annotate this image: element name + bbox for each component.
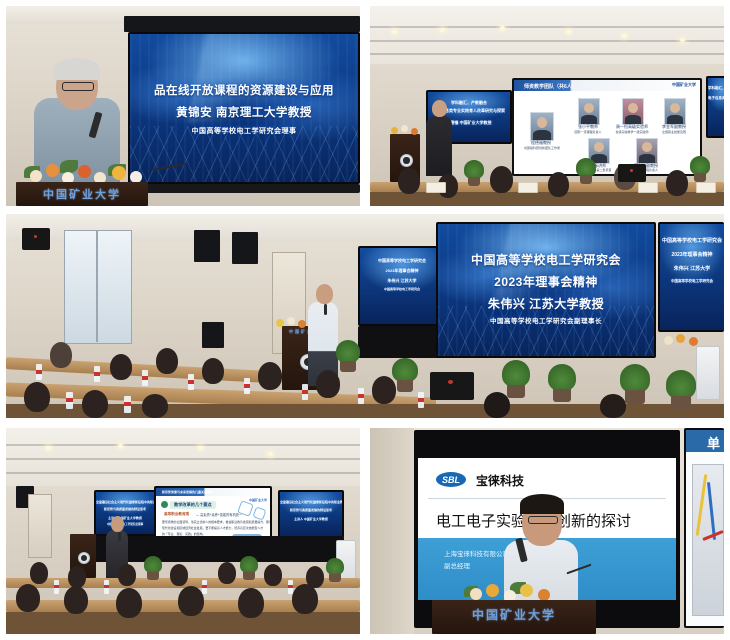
decorative-hexagon-icon — [252, 506, 266, 520]
wall-panel — [194, 230, 220, 262]
audience-head — [202, 358, 224, 384]
panel-top-right: 学科融汇、产教融合 电子信息类专业实践育人改革研究与探索 程德福 中国矿业大学教… — [370, 6, 724, 206]
water-bottle — [94, 366, 100, 382]
side-slide-line-1: 全面建设社会主义现代化国家新征程中的职业教育 — [280, 500, 342, 504]
potted-plant — [620, 364, 650, 404]
presentation-slide: 品在线开放课程的资源建设与应用 黄锦安 南京理工大学教授 中国高等学校电工学研究… — [130, 34, 358, 182]
audience-name-card — [638, 182, 658, 193]
potted-plant — [336, 340, 360, 372]
speaker-box — [618, 164, 646, 182]
side-screen-right: 全面建设社会主义现代化国家新征程中的职业教育 新形势与高质量发展的辩证思考 主讲… — [278, 490, 344, 538]
side-slide-line-4: 中国高等学校电工学研究会理事 — [96, 523, 154, 527]
potted-plant — [548, 364, 576, 402]
audience-head — [82, 390, 108, 418]
side-screen-left: 全面建设社会主义现代化国家新征程中的职业教育 新形势与高质量发展的辩证思考 主讲… — [94, 490, 156, 536]
water-dispenser — [696, 346, 720, 400]
water-bottle — [124, 396, 131, 413]
water-bottle — [36, 364, 42, 380]
side-slide-line-2: 新形势与高质量发展的辩证思考 — [96, 507, 154, 511]
potted-plant — [576, 158, 596, 184]
side-slide-line-2: 2023年理事会精神 — [360, 268, 444, 274]
audience-head — [490, 166, 513, 193]
slide-header-text: 新形势背景与未来发展的几重关系辨析 — [162, 490, 213, 494]
teaching-team-slide: 师资教学团队（共6人） 中国矿业大学 程德福教授 省部级科研创新团队工作者 张小… — [514, 80, 700, 174]
side-slide-line-2: 2023年理事会精神 — [660, 252, 724, 259]
audience-head — [316, 370, 340, 398]
audience-name-card — [426, 182, 446, 193]
potted-plant — [464, 160, 484, 186]
audience-head — [292, 584, 318, 614]
audience-head — [30, 562, 48, 584]
audience-head — [258, 362, 282, 390]
potted-plant — [240, 556, 258, 580]
member-role: 省部级科研创新团队工作者 — [514, 146, 570, 150]
audience-head — [118, 564, 136, 586]
audience-head — [142, 394, 168, 418]
potted-plant — [666, 370, 696, 410]
flower-arrangement — [388, 124, 422, 136]
audience-head — [264, 564, 282, 586]
photo-collage: 品在线开放课程的资源建设与应用 黄锦安 南京理工大学教授 中国高等学校电工学研究… — [0, 0, 730, 640]
member-portrait — [578, 98, 600, 125]
audience-head — [16, 584, 40, 612]
podium: 中国矿业大学 — [16, 182, 148, 206]
panel-top-left: 品在线开放课程的资源建设与应用 黄锦安 南京理工大学教授 中国高等学校电工学研究… — [6, 6, 360, 206]
side-slide-line-1: 中国高等学校电工学研究会 — [660, 238, 724, 245]
audience-head — [68, 566, 86, 588]
audience-head — [50, 342, 72, 368]
potted-plant — [144, 556, 162, 580]
water-bottle — [244, 378, 250, 394]
side-slide-line-1: 全面建设社会主义现代化国家新征程中的职业教育 — [96, 500, 154, 504]
potted-plant — [502, 360, 530, 398]
side-slide-line-1: 中国高等学校电工学研究会 — [360, 258, 444, 264]
panel-bottom-right: SBL 宝徕科技 电工电子实验内容创新的探讨 上海宝徕科技有限公司 副总经理 单 — [370, 428, 724, 634]
ceiling-spotlight — [46, 446, 51, 450]
panel-middle-wide: 中国高等学校电工学研究会 2023年理事会精神 朱伟兴 江苏大学 中国高等学校电… — [6, 214, 724, 418]
speaker-glasses — [62, 82, 94, 91]
speaker-body — [426, 116, 452, 176]
audience-head — [178, 586, 204, 616]
audience-head — [110, 354, 132, 380]
side-slide-line-3: 主讲人 中国矿业大学教授 — [280, 517, 342, 521]
member-portrait — [636, 138, 658, 164]
brand-name: 宝徕科技 — [476, 472, 524, 489]
side-slide-line-2: 新形势与高质量发展的辩证思考 — [280, 508, 342, 512]
sbl-logo-icon: SBL — [436, 472, 466, 487]
audience-head — [548, 172, 569, 197]
slide-line-2: 2023年理事会精神 — [438, 274, 654, 290]
handheld-microphone — [118, 532, 121, 541]
wall-speaker — [22, 228, 50, 250]
audience-head — [156, 348, 178, 374]
member-portrait — [664, 98, 686, 125]
body-line: 要坚持党的全面领导，落实立德树人的根本要求，推进职业教育发展和质量提升，服务国家 — [162, 520, 270, 524]
highlight-note: — 高素质+素养+技能的有机统一 — [196, 512, 242, 517]
window — [64, 230, 132, 344]
audience-head — [218, 562, 236, 584]
slide-line-3: 朱伟兴 江苏大学教授 — [438, 296, 654, 312]
audience-head — [666, 170, 688, 196]
university-logo: 中国矿业大学 — [672, 82, 696, 88]
bullet-marker-icon — [161, 501, 168, 508]
water-bottle — [202, 580, 207, 594]
ceiling-spotlight — [392, 30, 397, 34]
led-screen-frame: 品在线开放课程的资源建设与应用 黄锦安 南京理工大学教授 中国高等学校电工学研究… — [128, 32, 360, 184]
ceiling-spotlight — [118, 444, 123, 448]
audience-head — [116, 588, 142, 618]
university-logo: 中国矿业大学 — [249, 498, 267, 502]
podium-calligraphy: 中国矿业大学 — [16, 186, 148, 202]
speaker-head — [111, 516, 124, 532]
door — [28, 494, 52, 558]
water-bottle — [418, 392, 424, 408]
presentation-slide: 中国高等学校电工学研究会 2023年理事会精神 朱伟兴 江苏大学教授 中国高等学… — [438, 224, 654, 356]
ceiling-spotlight — [198, 446, 203, 450]
side-screen-right: 中国高等学校电工学研究会 2023年理事会精神 朱伟兴 江苏大学 中国高等学校电… — [658, 222, 724, 332]
audience-name-card — [518, 182, 538, 193]
side-slide-line-3: 朱伟兴 江苏大学 — [360, 278, 444, 284]
slide-line-1: 中国高等学校电工学研究会 — [438, 252, 654, 268]
slide-subtitle-2: 副总经理 — [444, 560, 470, 570]
speaker-head — [316, 284, 333, 304]
member-portrait — [622, 98, 644, 125]
university-emblem — [400, 154, 413, 167]
section-title: 教学改革的几个要点 — [170, 501, 216, 509]
audience-head — [64, 586, 88, 614]
potted-plant — [392, 358, 418, 392]
water-bottle — [142, 370, 148, 386]
side-slide-line-1: 学科融汇、产教融合 — [708, 86, 724, 91]
water-bottle — [358, 388, 364, 404]
side-slide-line-3: 主讲人 中国矿业大学教授 — [96, 516, 154, 520]
side-slide-line-4: 中国高等学校电工学研究会 — [660, 279, 724, 284]
wall-panel — [232, 232, 258, 264]
university-emblem — [78, 552, 90, 564]
side-slide-line-2: 电子信息类专业实践育人改革研究与探索 — [708, 96, 724, 101]
podium: 中国矿业大学 — [432, 600, 596, 634]
audience-head — [170, 564, 188, 586]
audience-head — [398, 168, 420, 194]
handheld-microphone — [440, 118, 443, 128]
ceiling-spotlight — [440, 28, 445, 32]
speaker-glasses — [528, 516, 558, 524]
speaker-hair — [54, 58, 100, 80]
screen-header-char: 单 — [707, 433, 720, 452]
wall-panel — [124, 16, 360, 32]
side-slide-line-4: 中国高等学校电工学研究会 — [360, 287, 444, 291]
main-led-frame: 中国高等学校电工学研究会 2023年理事会精神 朱伟兴 江苏大学教授 中国高等学… — [436, 222, 656, 358]
slide-line-2: 黄锦安 南京理工大学教授 — [130, 106, 358, 122]
body-line: 现代化建设和区域经济社会发展。要不断提高人才能力，培养高层次技能型人才 — [162, 526, 263, 530]
audience-head — [238, 588, 264, 618]
slide-line-4: 中国高等学校电工学研究会副理事长 — [438, 318, 654, 327]
slide-line-3: 中国高等学校电工学研究会理事 — [130, 127, 358, 136]
side-slide-line-3: 朱伟兴 江苏大学 — [660, 266, 724, 273]
side-screen-right: 单 — [684, 428, 724, 628]
speaker-hair — [520, 494, 564, 514]
ceiling-spotlight — [500, 26, 505, 30]
slide-line-1: 品在线开放课程的资源建设与应用 — [130, 84, 358, 100]
water-bottle — [104, 580, 109, 594]
slide-subtitle-1: 上海宝徕科技有限公司 — [444, 548, 509, 558]
slide-header-text: 师资教学团队（共6人） — [524, 83, 577, 90]
speaker-head — [432, 100, 447, 117]
side-screen-right: 学科融汇、产教融合 电子信息类专业实践育人改革研究与探索 — [706, 76, 724, 138]
member-role: 全国职业技能竞赛 — [648, 130, 700, 134]
speaker-box — [430, 372, 474, 400]
main-screen-frame: 师资教学团队（共6人） 中国矿业大学 程德福教授 省部级科研创新团队工作者 张小… — [512, 78, 702, 176]
audience-head — [24, 382, 50, 412]
ceiling-spotlight — [680, 38, 685, 42]
water-bottle — [288, 580, 293, 594]
podium-calligraphy: 中国矿业大学 — [432, 606, 596, 623]
member-portrait — [530, 112, 554, 141]
audience-name-card — [696, 182, 716, 193]
side-screen-left: 中国高等学校电工学研究会 2023年理事会精神 朱伟兴 江苏大学 中国高等学校电… — [358, 246, 446, 326]
potted-plant — [690, 156, 710, 182]
wall-panel — [202, 322, 224, 348]
handheld-microphone — [324, 304, 327, 315]
water-bottle — [188, 374, 194, 390]
potted-plant — [326, 558, 344, 582]
water-bottle — [54, 580, 59, 594]
water-bottle — [66, 392, 73, 409]
ceiling-spotlight — [622, 34, 627, 38]
panel-bottom-left: 全面建设社会主义现代化国家新征程中的职业教育 新形势与高质量发展的辩证思考 主讲… — [6, 428, 360, 634]
ceiling-spotlight — [566, 30, 571, 34]
water-bottle — [302, 384, 308, 400]
ceiling-spotlight — [268, 452, 273, 456]
highlight-text: 高等职业教育观 — [164, 512, 189, 517]
